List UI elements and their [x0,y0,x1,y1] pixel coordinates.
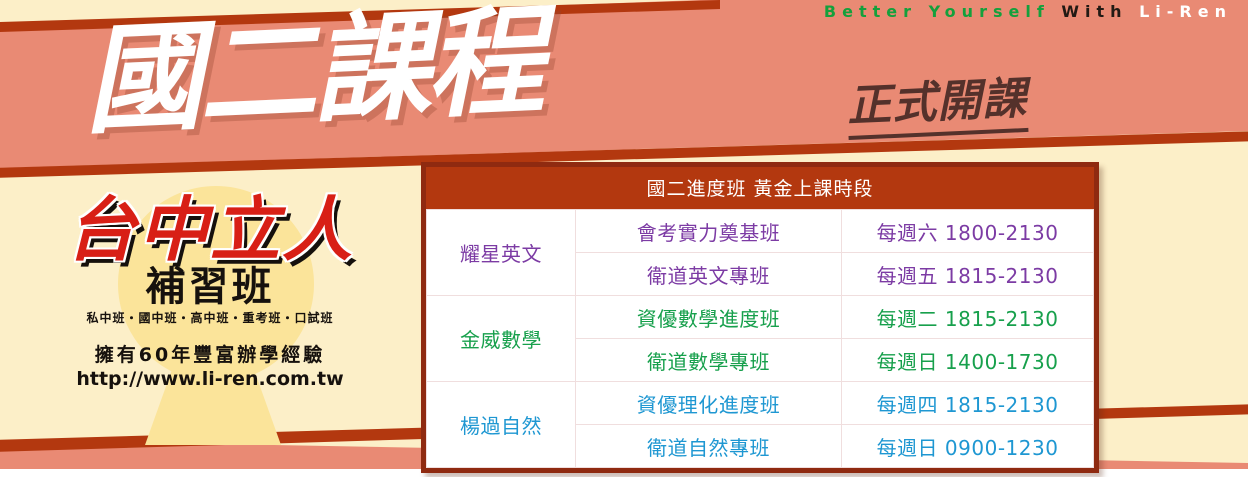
logo-brand-subtitle: 補習班 [0,267,420,307]
schedule-time-cell: 每週日 1400-1730 [842,339,1094,382]
logo-experience-text: 擁有60年豐富辦學經驗 [0,340,420,367]
schedule-time-cell: 每週二 1815-2130 [842,296,1094,339]
schedule-course-cell: 資優理化進度班 [576,382,842,425]
schedule-panel: 國二進度班 黃金上課時段 耀星英文會考實力奠基班每週六 1800-2130衛道英… [421,162,1099,473]
tagline-white-text: Li-Ren [1139,2,1232,21]
schedule-course-cell: 衛道自然專班 [576,425,842,468]
tagline-black-text: With [1061,2,1127,21]
tagline-green-text: Better Yourself [824,2,1050,21]
schedule-teacher-cell: 楊過自然 [427,382,576,468]
schedule-course-cell: 衛道英文專班 [576,253,842,296]
schedule-header-title: 國二進度班 黃金上課時段 [426,167,1094,209]
logo-class-types: 私中班・國中班・高中班・重考班・口試班 [0,309,420,326]
headline-sub: 正式開課 [846,62,1029,140]
brand-logo-block: 台中立人 補習班 私中班・國中班・高中班・重考班・口試班 擁有60年豐富辦學經驗… [0,196,420,390]
schedule-teacher-cell: 金威數學 [427,296,576,382]
schedule-time-cell: 每週五 1815-2130 [842,253,1094,296]
schedule-course-cell: 會考實力奠基班 [576,210,842,253]
schedule-teacher-cell: 耀星英文 [427,210,576,296]
schedule-table-body: 耀星英文會考實力奠基班每週六 1800-2130衛道英文專班每週五 1815-2… [427,210,1094,468]
schedule-row: 耀星英文會考實力奠基班每週六 1800-2130 [427,210,1094,253]
tagline: Better Yourself With Li-Ren [824,2,1232,21]
schedule-time-cell: 每週六 1800-2130 [842,210,1094,253]
schedule-row: 楊過自然資優理化進度班每週四 1815-2130 [427,382,1094,425]
schedule-row: 金威數學資優數學進度班每週二 1815-2130 [427,296,1094,339]
logo-website-url[interactable]: http://www.li-ren.com.tw [0,368,420,390]
schedule-table: 耀星英文會考實力奠基班每週六 1800-2130衛道英文專班每週五 1815-2… [426,209,1094,468]
promotional-banner: Better Yourself With Li-Ren 國二課程 正式開課 台中… [0,0,1248,477]
headline-main: 國二課程 [82,2,543,141]
schedule-course-cell: 衛道數學專班 [576,339,842,382]
logo-brand-name: 台中立人 [0,196,420,265]
schedule-time-cell: 每週日 0900-1230 [842,425,1094,468]
schedule-course-cell: 資優數學進度班 [576,296,842,339]
schedule-time-cell: 每週四 1815-2130 [842,382,1094,425]
